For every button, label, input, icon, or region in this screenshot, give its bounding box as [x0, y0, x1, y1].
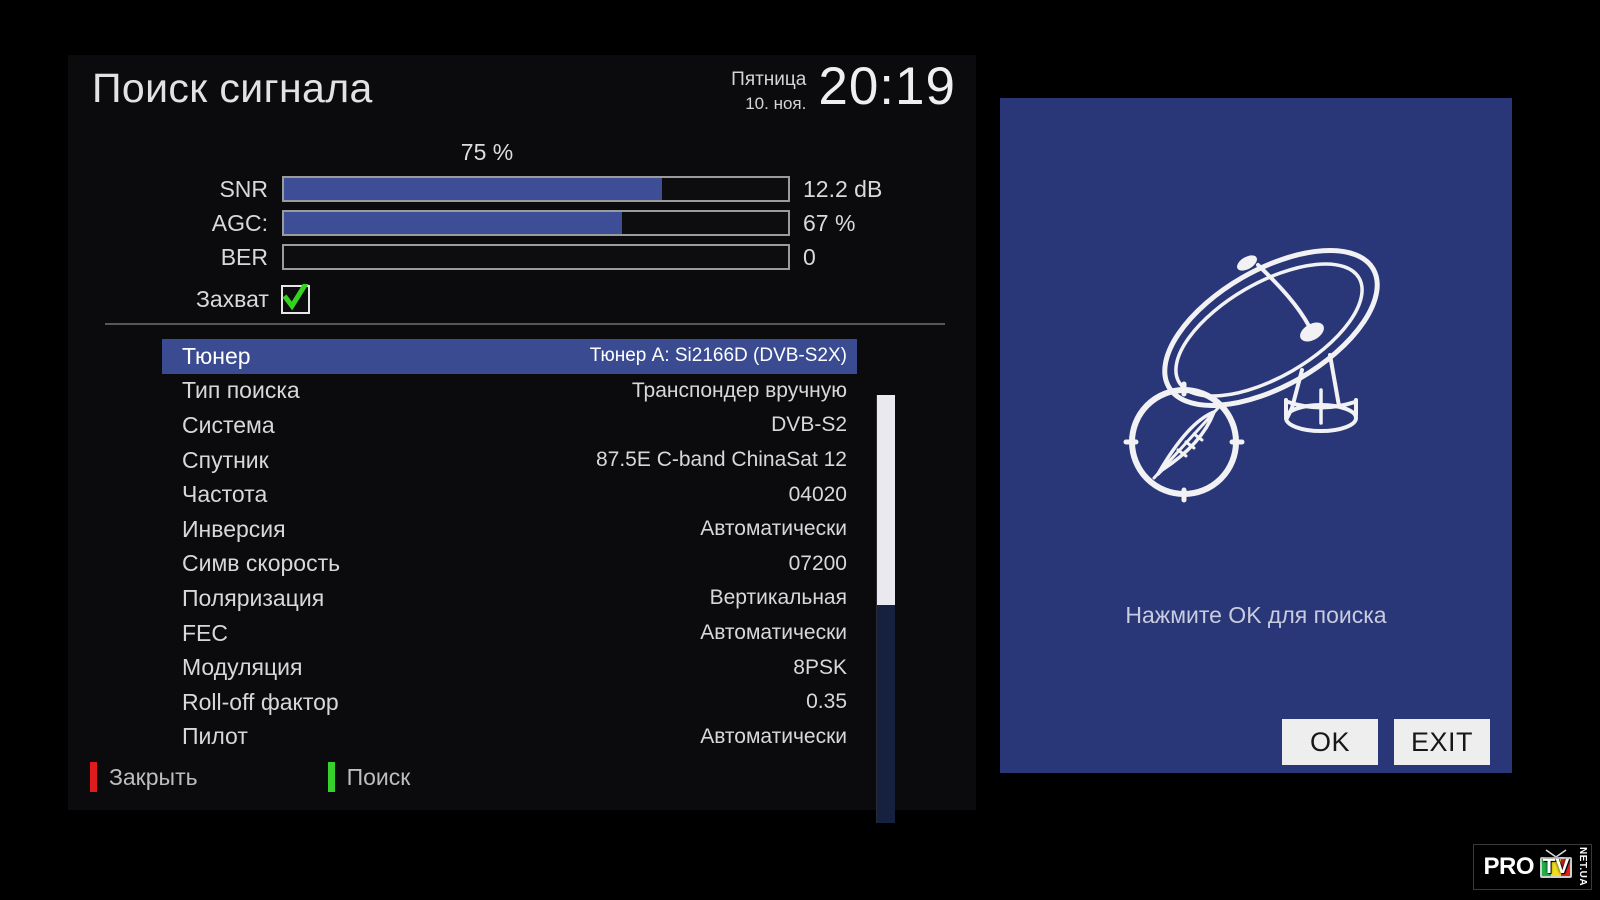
- green-key-chip: [328, 762, 335, 792]
- param-key: Спутник: [182, 447, 269, 474]
- param-key: Модуляция: [182, 654, 302, 681]
- scrollbar-thumb[interactable]: [877, 395, 895, 605]
- param-key: Тип поиска: [182, 377, 300, 404]
- meter-label: SNR: [68, 176, 282, 203]
- meter-value: 67 %: [790, 210, 855, 237]
- param-value: Транспондер вручную: [632, 379, 847, 403]
- tv-icon: TV: [1537, 847, 1575, 887]
- meter-row: AGC:67 %: [68, 209, 976, 237]
- page-title: Поиск сигнала: [92, 65, 373, 112]
- capture-label: Захват: [196, 286, 281, 313]
- capture-checkbox[interactable]: [281, 285, 310, 314]
- dialog-header: Поиск сигнала Пятница 10. ноя. 20:19: [68, 55, 976, 133]
- param-key: Пилот: [182, 723, 248, 750]
- close-button-label: Закрыть: [109, 764, 198, 791]
- watermark-tv-label: TV: [1543, 855, 1570, 879]
- param-row[interactable]: ПоляризацияВертикальная: [162, 581, 857, 616]
- param-key: Тюнер: [182, 343, 251, 370]
- param-key: Roll-off фактор: [182, 689, 339, 716]
- signal-search-dialog: Поиск сигнала Пятница 10. ноя. 20:19 75 …: [68, 55, 976, 810]
- param-value: Тюнер A: Si2166D (DVB-S2X): [590, 345, 847, 367]
- close-button[interactable]: Закрыть: [90, 762, 198, 792]
- meter-bar: [282, 244, 790, 270]
- param-row[interactable]: FECАвтоматически: [162, 616, 857, 651]
- param-key: Система: [182, 412, 275, 439]
- param-row[interactable]: СистемаDVB-S2: [162, 408, 857, 443]
- search-button-label: Поиск: [347, 764, 411, 791]
- param-value: 04020: [789, 483, 847, 507]
- param-row[interactable]: Частота04020: [162, 477, 857, 512]
- preview-panel: Нажмите OK для поиска OK EXIT: [1000, 98, 1512, 773]
- watermark-brand: PRO: [1477, 847, 1537, 887]
- param-value: 0.35: [806, 690, 847, 714]
- param-row[interactable]: ПилотАвтоматически: [162, 720, 857, 755]
- meter-bar: [282, 210, 790, 236]
- param-key: Инверсия: [182, 516, 286, 543]
- param-row[interactable]: Симв скорость07200: [162, 547, 857, 582]
- preview-buttons: OK EXIT: [1282, 719, 1490, 765]
- meter-value: 0: [790, 244, 816, 271]
- meter-fill: [284, 178, 662, 200]
- param-key: Частота: [182, 481, 267, 508]
- exit-button[interactable]: EXIT: [1394, 719, 1490, 765]
- param-key: Симв скорость: [182, 550, 340, 577]
- param-key: FEC: [182, 620, 228, 647]
- clock: Пятница 10. ноя. 20:19: [731, 62, 956, 116]
- watermark-site: NET.UA: [1575, 847, 1588, 887]
- preview-hint: Нажмите OK для поиска: [1000, 602, 1512, 629]
- ok-button[interactable]: OK: [1282, 719, 1378, 765]
- satellite-dish-icon: [1106, 210, 1406, 515]
- meter-fill: [284, 212, 622, 234]
- param-value: 07200: [789, 552, 847, 576]
- param-value: 87.5E C-band ChinaSat 12: [596, 448, 847, 472]
- param-row[interactable]: Спутник87.5E C-band ChinaSat 12: [162, 443, 857, 478]
- parameter-rows: ТюнерТюнер A: Si2166D (DVB-S2X)Тип поиск…: [162, 339, 857, 754]
- param-row[interactable]: Тип поискаТранспондер вручную: [162, 374, 857, 409]
- signal-meters: 75 % SNR12.2 dBAGC:67 %BER0 Захват: [68, 139, 976, 314]
- search-button[interactable]: Поиск: [328, 762, 411, 792]
- clock-time: 20:19: [818, 62, 956, 113]
- meters-container: SNR12.2 dBAGC:67 %BER0: [68, 175, 976, 271]
- param-value: Автоматически: [700, 621, 847, 645]
- red-key-chip: [90, 762, 97, 792]
- param-row[interactable]: ИнверсияАвтоматически: [162, 512, 857, 547]
- meter-label: BER: [68, 244, 282, 271]
- meter-label: AGC:: [68, 210, 282, 237]
- clock-daymonth: 10. ноя.: [731, 93, 806, 116]
- watermark: PRO TV NET.UA: [1473, 844, 1592, 890]
- param-value: Автоматически: [700, 725, 847, 749]
- param-row[interactable]: ТюнерТюнер A: Si2166D (DVB-S2X): [162, 339, 857, 374]
- param-value: DVB-S2: [771, 413, 847, 437]
- meter-value: 12.2 dB: [790, 176, 882, 203]
- section-divider: [105, 323, 945, 325]
- meter-row: BER0: [68, 243, 976, 271]
- clock-weekday: Пятница: [731, 67, 806, 93]
- param-value: Автоматически: [700, 517, 847, 541]
- param-value: 8PSK: [793, 656, 847, 680]
- param-row[interactable]: Модуляция8PSK: [162, 650, 857, 685]
- meter-bar: [282, 176, 790, 202]
- capture-row[interactable]: Захват: [196, 285, 976, 314]
- clock-date: Пятница 10. ноя.: [731, 62, 818, 116]
- checkmark-icon: [282, 284, 309, 314]
- param-value: Вертикальная: [710, 586, 847, 610]
- dialog-footer: Закрыть Поиск: [68, 762, 976, 792]
- meter-row: SNR12.2 dB: [68, 175, 976, 203]
- param-row[interactable]: Roll-off фактор0.35: [162, 685, 857, 720]
- signal-percent-label: 75 %: [0, 139, 976, 166]
- param-key: Поляризация: [182, 585, 324, 612]
- list-scrollbar[interactable]: [876, 395, 895, 823]
